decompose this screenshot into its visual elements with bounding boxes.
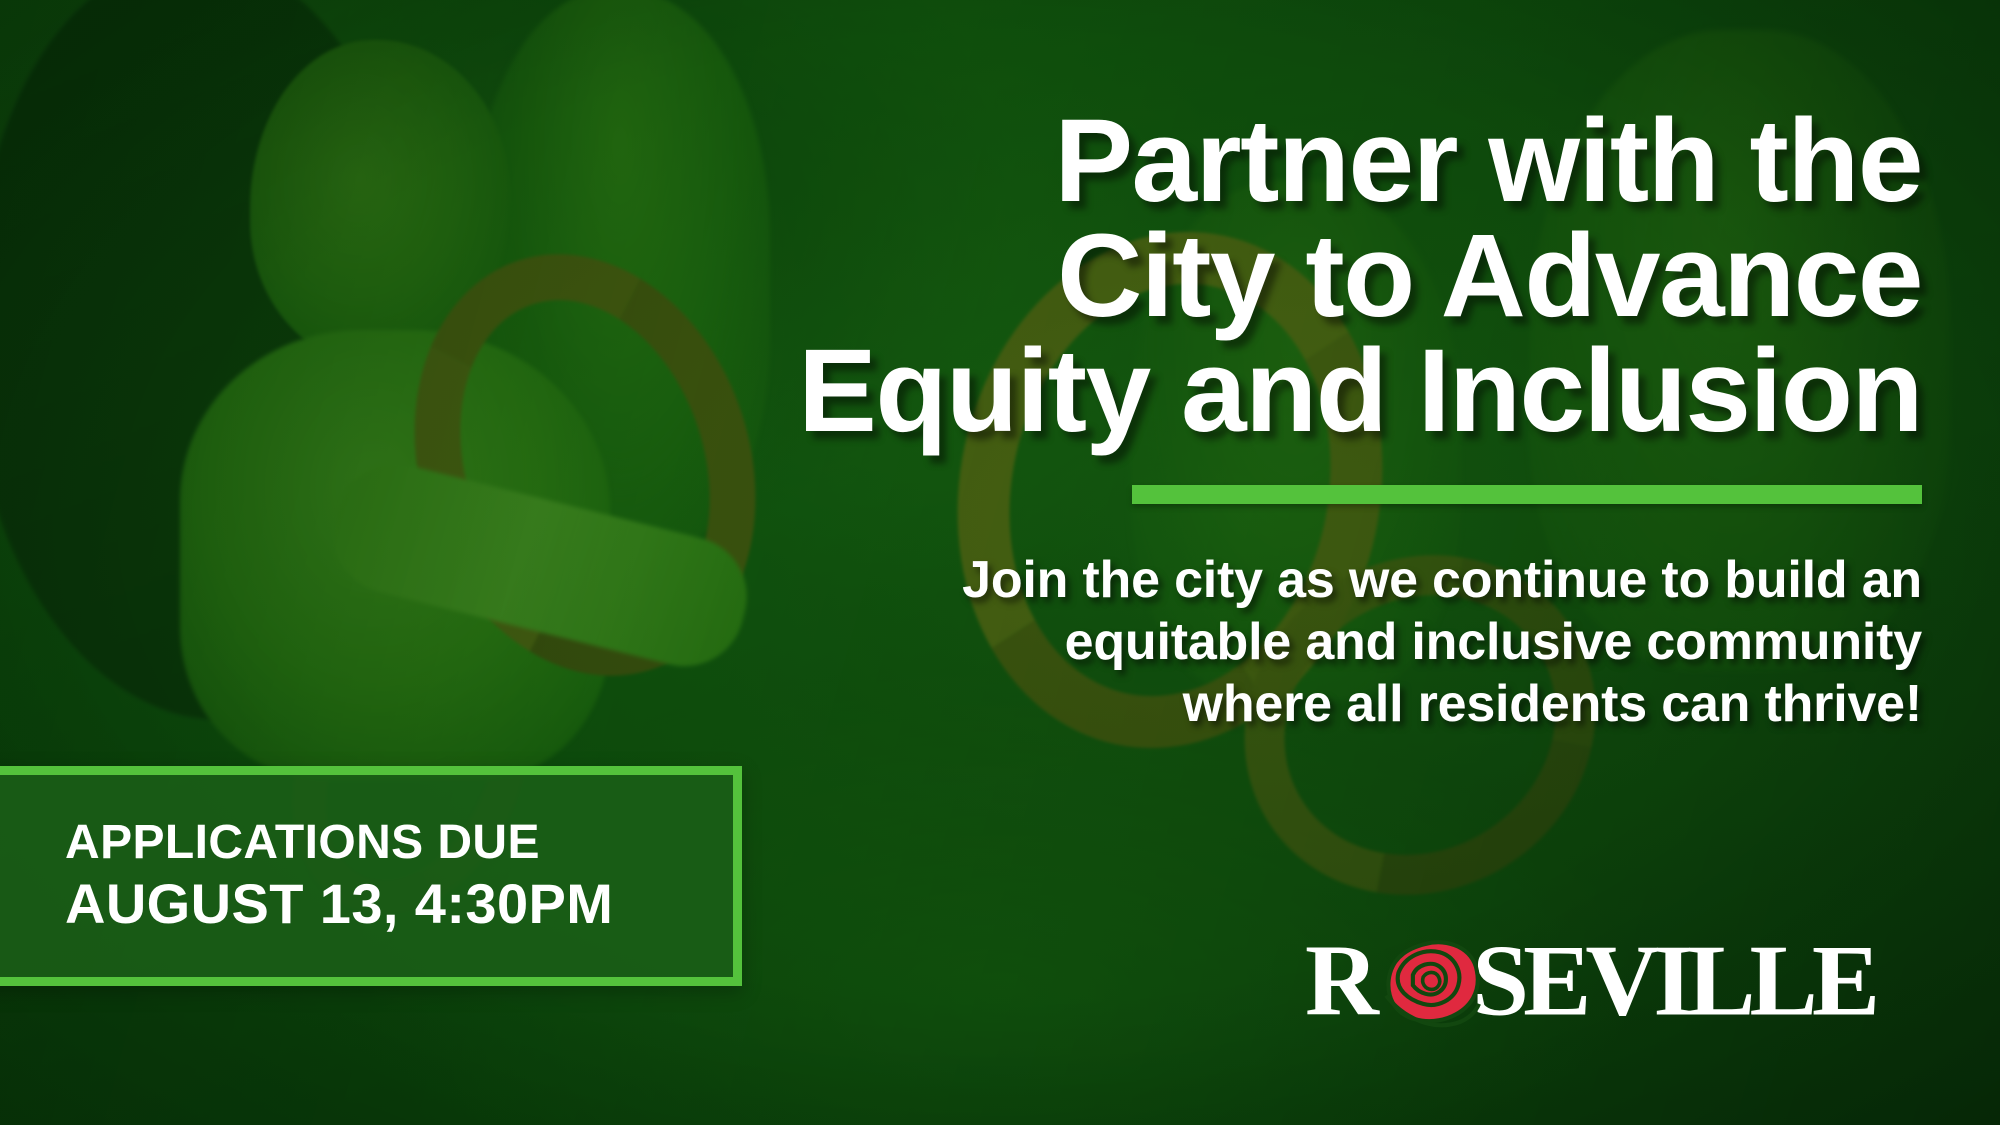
headline-line-3: Equity and Inclusion xyxy=(712,334,1922,449)
text-column: Partner with the City to Advance Equity … xyxy=(712,104,1922,736)
subtitle-line-1: Join the city as we continue to build an xyxy=(712,550,1922,612)
accent-divider-bar xyxy=(1132,485,1922,504)
applications-due-date: AUGUST 13, 4:30PM xyxy=(65,871,733,937)
subtitle-line-2: equitable and inclusive community xyxy=(712,612,1922,674)
headline: Partner with the City to Advance Equity … xyxy=(712,104,1922,449)
headline-line-1: Partner with the xyxy=(712,104,1922,219)
applications-due-badge: APPLICATIONS DUE AUGUST 13, 4:30PM xyxy=(0,766,742,986)
logo-letter-r: R xyxy=(1305,924,1380,1037)
rose-icon xyxy=(1386,942,1479,1025)
applications-due-label: APPLICATIONS DUE xyxy=(65,815,733,872)
promotional-poster: Partner with the City to Advance Equity … xyxy=(0,0,2000,1125)
logo-wordmark-tail: SEVILLE xyxy=(1472,924,1875,1037)
headline-line-2: City to Advance xyxy=(712,219,1922,334)
subtitle-line-3: where all residents can thrive! xyxy=(712,674,1922,736)
subtitle: Join the city as we continue to build an… xyxy=(712,550,1922,736)
roseville-logo: R SEVILLE xyxy=(1305,925,1934,1033)
